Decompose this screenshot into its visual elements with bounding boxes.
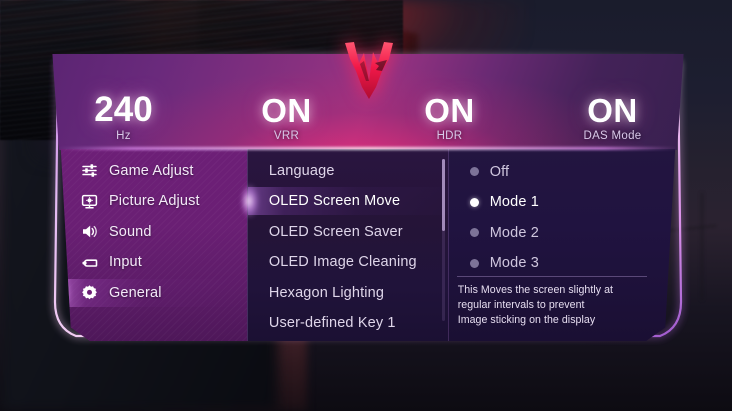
description-divider — [457, 276, 647, 277]
option-mode-1[interactable]: Mode 1 — [449, 188, 677, 216]
sidebar-item-picture-adjust[interactable]: Picture Adjust — [59, 187, 247, 215]
sidebar-item-label: Input — [109, 254, 142, 270]
stat-label: HDR — [368, 130, 531, 142]
description-line: regular intervals to prevent — [458, 298, 657, 313]
menu-item-label: Language — [269, 163, 335, 179]
stat-label: Hz — [42, 130, 205, 142]
radio-icon — [470, 259, 479, 268]
stat-das-mode: ON DAS Mode — [531, 94, 694, 150]
sliders-icon — [81, 162, 98, 179]
radio-icon — [470, 228, 479, 237]
header-separator — [58, 147, 677, 150]
sidebar-item-game-adjust[interactable]: Game Adjust — [59, 157, 247, 185]
sidebar-item-label: Sound — [109, 224, 152, 240]
option-label: Mode 2 — [490, 225, 539, 241]
lg-ultragear-logo — [342, 41, 396, 103]
settings-menu-list: Language OLED Screen Move OLED Screen Sa… — [247, 149, 448, 341]
sidebar-item-general[interactable]: General — [59, 279, 247, 307]
menu-item-oled-screen-saver[interactable]: OLED Screen Saver — [248, 218, 448, 246]
menu-item-label: OLED Screen Move — [269, 193, 400, 209]
gear-icon — [81, 284, 98, 301]
speaker-icon — [81, 223, 98, 240]
option-mode-2[interactable]: Mode 2 — [449, 219, 677, 247]
sidebar-item-input[interactable]: Input — [59, 248, 247, 276]
stat-label: DAS Mode — [531, 130, 694, 142]
option-panel: Off Mode 1 Mode 2 Mode 3 This Moves the … — [448, 149, 677, 341]
stat-value: 240 — [42, 92, 205, 127]
option-mode-3[interactable]: Mode 3 — [449, 249, 677, 277]
plug-icon — [81, 254, 98, 271]
option-label: Mode 1 — [490, 194, 539, 210]
stat-value: ON — [531, 94, 694, 127]
menu-item-user-defined-key-1[interactable]: User-defined Key 1 — [248, 309, 448, 337]
menu-item-label: Hexagon Lighting — [269, 285, 384, 301]
stat-refresh-rate: 240 Hz — [42, 92, 205, 150]
sidebar-item-sound[interactable]: Sound — [59, 218, 247, 246]
menu-item-label: OLED Screen Saver — [269, 224, 403, 240]
description-line: Image sticking on the display — [458, 313, 657, 328]
radio-icon — [470, 167, 479, 176]
menu-item-oled-image-cleaning[interactable]: OLED Image Cleaning — [248, 248, 448, 276]
option-description: This Moves the screen slightly at regula… — [458, 283, 657, 328]
description-line: This Moves the screen slightly at — [458, 283, 657, 298]
option-label: Mode 3 — [490, 255, 539, 271]
menu-item-oled-screen-move[interactable]: OLED Screen Move — [248, 187, 448, 215]
monitor-icon — [81, 193, 98, 210]
stat-label: VRR — [205, 130, 368, 142]
osd-body: Game Adjust — [59, 149, 677, 341]
sidebar-item-label: General — [109, 285, 162, 301]
sidebar-item-label: Game Adjust — [109, 163, 194, 179]
option-off[interactable]: Off — [449, 158, 677, 186]
radio-selected-icon — [470, 198, 479, 207]
background-pole — [701, 193, 703, 300]
menu-scrollbar[interactable] — [442, 159, 445, 321]
sidebar: Game Adjust — [59, 149, 247, 341]
sidebar-item-label: Picture Adjust — [109, 193, 200, 209]
menu-item-label: OLED Image Cleaning — [269, 254, 417, 270]
menu-scrollbar-thumb[interactable] — [442, 159, 445, 231]
option-label: Off — [490, 164, 510, 180]
menu-item-label: User-defined Key 1 — [269, 315, 396, 331]
menu-item-hexagon-lighting[interactable]: Hexagon Lighting — [248, 279, 448, 307]
menu-item-language[interactable]: Language — [248, 157, 448, 185]
